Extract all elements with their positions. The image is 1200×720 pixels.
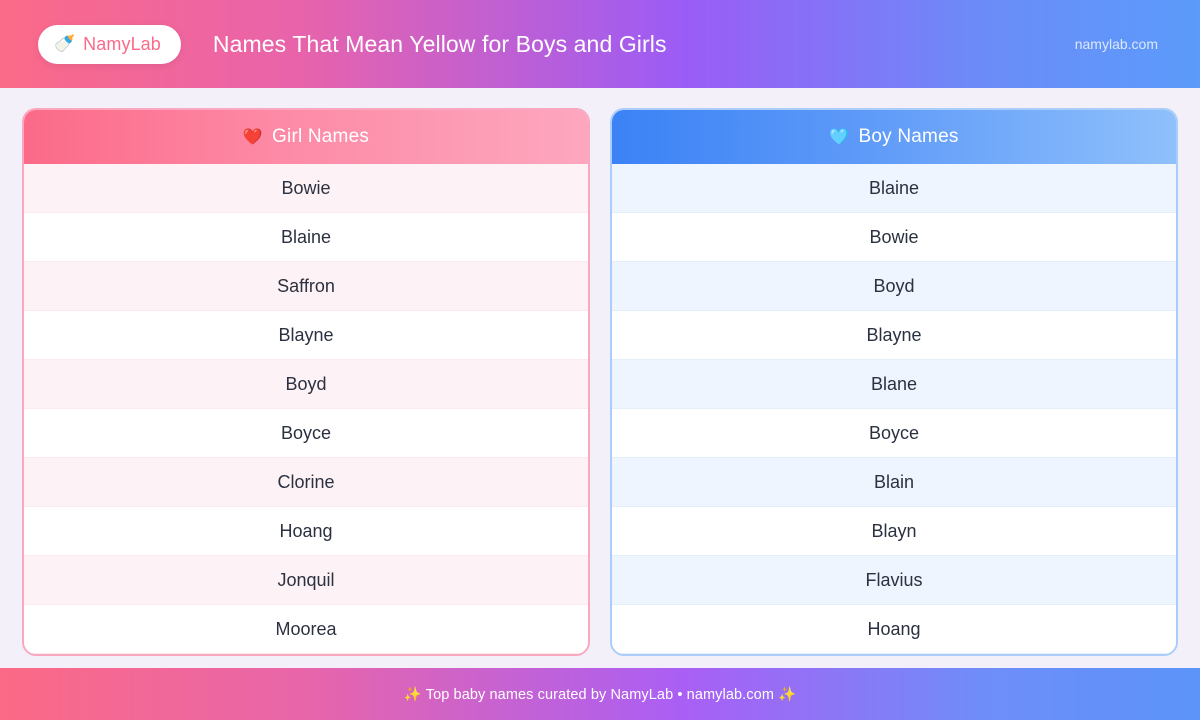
boy-names-card: 🩵 Boy Names Blaine Bowie Boyd Blayne Bla… <box>610 108 1178 656</box>
list-item[interactable]: Blayne <box>612 311 1176 360</box>
list-item[interactable]: Boyce <box>612 409 1176 458</box>
boy-names-card-header: 🩵 Boy Names <box>612 110 1176 164</box>
list-item[interactable]: Moorea <box>24 605 588 654</box>
page-footer: ✨ Top baby names curated by NamyLab • na… <box>0 668 1200 720</box>
baby-bottle-icon: 🍼 <box>54 36 75 53</box>
list-item[interactable]: Bowie <box>24 164 588 213</box>
list-item[interactable]: Clorine <box>24 458 588 507</box>
footer-credit-label: ✨ Top baby names curated by NamyLab • na… <box>404 686 797 703</box>
page-header: 🍼 NamyLab Names That Mean Yellow for Boy… <box>0 0 1200 88</box>
page-title: Names That Mean Yellow for Boys and Girl… <box>181 31 1075 58</box>
list-item[interactable]: Hoang <box>24 507 588 556</box>
list-item[interactable]: Hoang <box>612 605 1176 654</box>
list-item[interactable]: Boyd <box>612 262 1176 311</box>
list-item[interactable]: Jonquil <box>24 556 588 605</box>
light-blue-heart-icon: 🩵 <box>829 129 849 145</box>
list-item[interactable]: Blain <box>612 458 1176 507</box>
list-item[interactable]: Blayn <box>612 507 1176 556</box>
page-root: 🍼 NamyLab Names That Mean Yellow for Boy… <box>0 0 1200 720</box>
brand-logo-pill[interactable]: 🍼 NamyLab <box>38 25 181 64</box>
list-item[interactable]: Flavius <box>612 556 1176 605</box>
boy-names-card-title: Boy Names <box>859 126 959 148</box>
brand-name-label: NamyLab <box>83 34 161 55</box>
boy-names-list: Blaine Bowie Boyd Blayne Blane Boyce Bla… <box>612 164 1176 654</box>
list-item[interactable]: Blaine <box>612 164 1176 213</box>
list-item[interactable]: Bowie <box>612 213 1176 262</box>
site-url-label: namylab.com <box>1075 36 1174 52</box>
cards-container: ❤️ Girl Names Bowie Blaine Saffron Blayn… <box>0 88 1200 668</box>
list-item[interactable]: Blayne <box>24 311 588 360</box>
girl-names-card-title: Girl Names <box>272 126 369 148</box>
list-item[interactable]: Boyce <box>24 409 588 458</box>
list-item[interactable]: Saffron <box>24 262 588 311</box>
red-heart-icon: ❤️ <box>243 129 263 145</box>
list-item[interactable]: Blaine <box>24 213 588 262</box>
girl-names-card-header: ❤️ Girl Names <box>24 110 588 164</box>
girl-names-list: Bowie Blaine Saffron Blayne Boyd Boyce C… <box>24 164 588 654</box>
list-item[interactable]: Boyd <box>24 360 588 409</box>
list-item[interactable]: Blane <box>612 360 1176 409</box>
girl-names-card: ❤️ Girl Names Bowie Blaine Saffron Blayn… <box>22 108 590 656</box>
